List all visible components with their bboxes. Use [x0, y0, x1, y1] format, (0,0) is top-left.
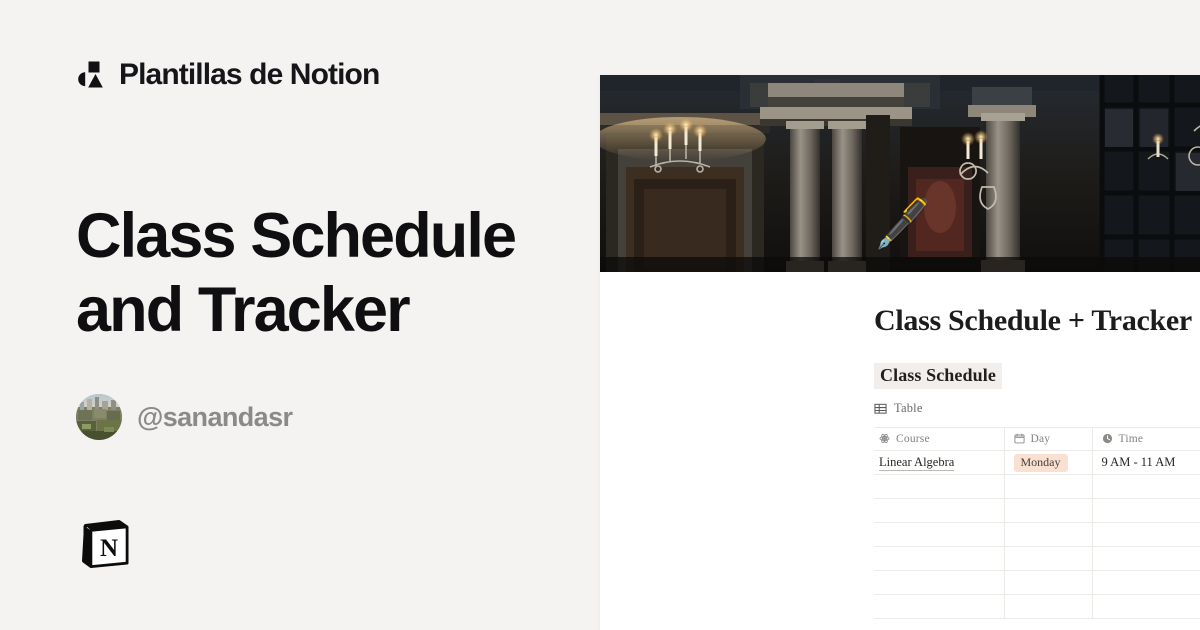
shapes-icon	[76, 60, 106, 90]
cell-day[interactable]	[1004, 546, 1092, 570]
cell-course[interactable]	[874, 594, 1004, 618]
cell-course[interactable]	[874, 546, 1004, 570]
brand[interactable]: Plantillas de Notion	[76, 52, 600, 98]
class-schedule-table[interactable]: Course	[874, 427, 1200, 619]
cell-day[interactable]	[1004, 474, 1092, 498]
cell-time[interactable]: 9 AM - 11 AM	[1092, 450, 1200, 474]
table-row[interactable]	[874, 546, 1200, 570]
table-row[interactable]	[874, 522, 1200, 546]
column-header-time[interactable]: Time	[1092, 427, 1200, 450]
cell-day[interactable]	[1004, 594, 1092, 618]
cell-time[interactable]	[1092, 522, 1200, 546]
cell-course[interactable]: Linear Algebra	[874, 450, 1004, 474]
author[interactable]: @sanandasr	[76, 394, 600, 440]
fountain-pen-icon: 🖋️	[873, 199, 932, 247]
table-row[interactable]	[874, 594, 1200, 618]
cell-day[interactable]: Monday	[1004, 450, 1092, 474]
table-row[interactable]	[874, 498, 1200, 522]
column-header-day[interactable]: Day	[1004, 427, 1092, 450]
cell-day[interactable]	[1004, 570, 1092, 594]
cell-day[interactable]	[1004, 498, 1092, 522]
cell-course[interactable]	[874, 570, 1004, 594]
table-icon	[874, 402, 887, 415]
section-heading: Class Schedule	[874, 363, 1002, 389]
column-header-course[interactable]: Course	[874, 427, 1004, 450]
brand-title: Plantillas de Notion	[119, 60, 379, 90]
cell-time[interactable]	[1092, 474, 1200, 498]
atom-icon	[879, 433, 890, 444]
view-tab-table[interactable]: Table	[874, 400, 1200, 418]
cell-time[interactable]	[1092, 546, 1200, 570]
cell-time[interactable]	[1092, 570, 1200, 594]
view-tab-label: Table	[894, 401, 923, 416]
card-body: 🖋️ Class Schedule + Tracker Class Schedu…	[600, 272, 1200, 619]
template-share-card: Plantillas de Notion Class Schedule and …	[0, 0, 1200, 630]
cell-time[interactable]	[1092, 594, 1200, 618]
column-label-day: Day	[1031, 433, 1051, 445]
cell-course[interactable]	[874, 498, 1004, 522]
table-row[interactable]	[874, 474, 1200, 498]
doc-title: Class Schedule + Tracker	[600, 272, 1200, 339]
table-row[interactable]: Linear Algebra Monday 9 AM - 11 AM 1	[874, 450, 1200, 474]
page-title: Class Schedule and Tracker	[76, 200, 546, 347]
day-tag: Monday	[1014, 454, 1068, 472]
table-header-row: Course	[874, 427, 1200, 450]
cell-course[interactable]	[874, 474, 1004, 498]
column-label-time: Time	[1119, 433, 1144, 445]
calendar-icon	[1014, 433, 1025, 444]
left-panel: Plantillas de Notion Class Schedule and …	[0, 0, 600, 630]
cell-day[interactable]	[1004, 522, 1092, 546]
cell-course[interactable]	[874, 522, 1004, 546]
clock-icon	[1102, 433, 1113, 444]
table-body: Linear Algebra Monday 9 AM - 11 AM 1	[874, 450, 1200, 618]
table-row[interactable]	[874, 570, 1200, 594]
notion-logo: N	[77, 516, 133, 572]
avatar	[76, 394, 122, 440]
cell-time-value: 9 AM - 11 AM	[1102, 455, 1176, 469]
cell-course-value: Linear Algebra	[879, 455, 954, 472]
template-preview-card[interactable]: 🖋️ Class Schedule + Tracker Class Schedu…	[600, 75, 1200, 630]
svg-text:N: N	[100, 535, 118, 562]
cell-time[interactable]	[1092, 498, 1200, 522]
column-label-course: Course	[896, 433, 930, 445]
author-handle: @sanandasr	[137, 402, 292, 433]
